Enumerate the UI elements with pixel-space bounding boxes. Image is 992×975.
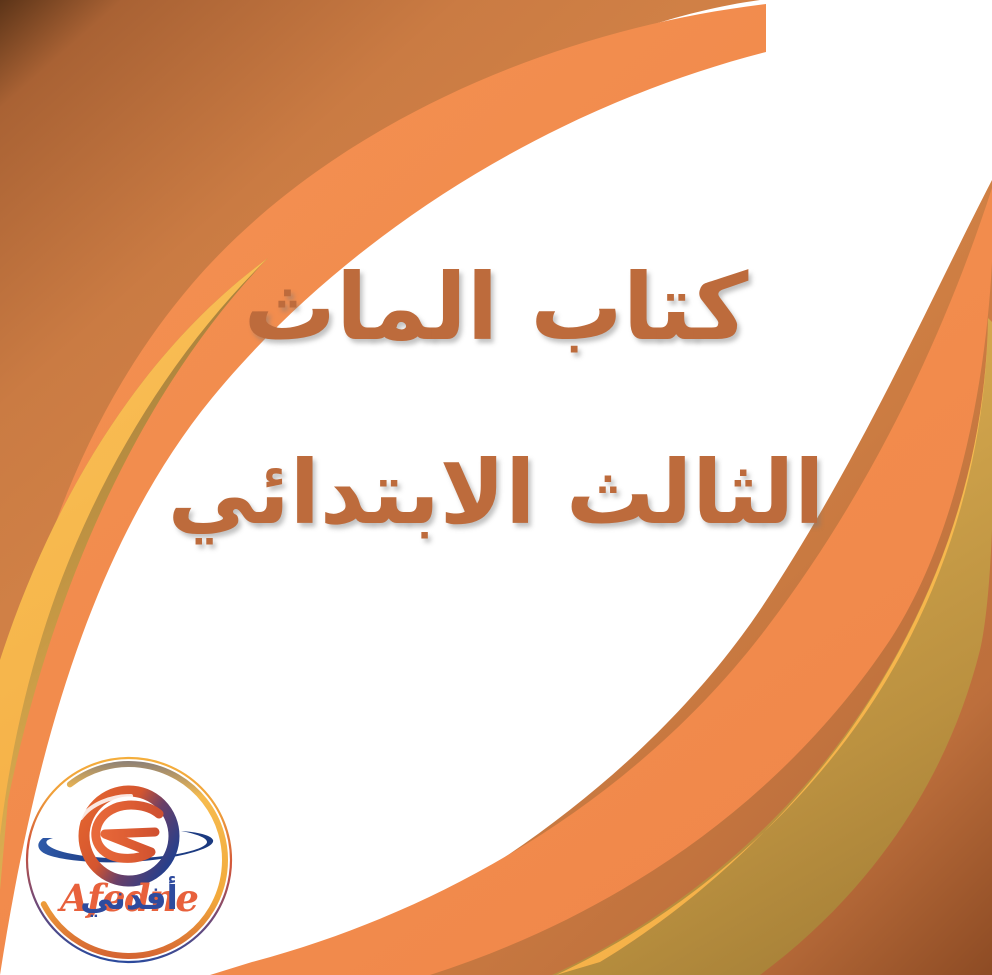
title-line-2: الثالث الابتدائي [0, 445, 992, 540]
logo-artwork [21, 752, 237, 968]
title-line-1: كتاب الماث [0, 258, 992, 357]
book-cover: كتاب الماث الثالث الابتدائي Afedne أفدني [0, 0, 992, 975]
cover-title: كتاب الماث الثالث الابتدائي [0, 258, 992, 540]
afedne-logo: Afedne أفدني [21, 752, 237, 968]
